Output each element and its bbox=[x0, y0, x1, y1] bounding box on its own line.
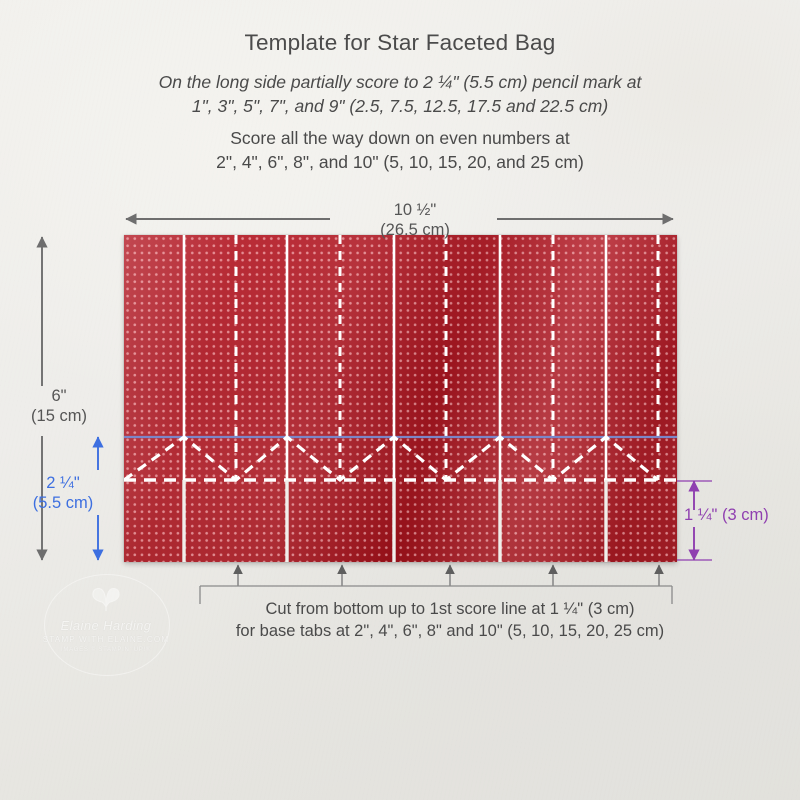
cut-note-line-1: Cut from bottom up to 1st score line at … bbox=[160, 598, 740, 620]
zigzag-facet-lines bbox=[124, 437, 658, 480]
partial-score-lines bbox=[236, 235, 658, 480]
partial-score-depth-label: 2 ¼" (5.5 cm) bbox=[2, 473, 124, 513]
width-inches: 10 ½" bbox=[330, 200, 500, 220]
height-dimension-label: 6" (15 cm) bbox=[0, 386, 118, 426]
cut-note-line-2: for base tabs at 2", 4", 6", 8" and 10" … bbox=[160, 620, 740, 642]
cut-instruction-note: Cut from bottom up to 1st score line at … bbox=[160, 598, 740, 642]
butterfly-icon bbox=[89, 586, 123, 612]
instruction-line-4: 2", 4", 6", 8", and 10" (5, 10, 15, 20, … bbox=[0, 150, 800, 174]
instruction-line-1: On the long side partially score to 2 ¼"… bbox=[0, 70, 800, 94]
width-cm: (26.5 cm) bbox=[330, 220, 500, 240]
watermark-credit: IMAGES © STAMPIN' UP!® bbox=[36, 647, 176, 653]
instruction-line-3: Score all the way down on even numbers a… bbox=[0, 126, 800, 150]
height-inches: 6" bbox=[0, 386, 118, 406]
partial-score-cm: (5.5 cm) bbox=[2, 493, 124, 513]
width-dimension-label: 10 ½" (26.5 cm) bbox=[330, 200, 500, 240]
watermark-domain: STAMP WITH ELAINE.COM bbox=[36, 635, 176, 644]
watermark-ring bbox=[44, 574, 170, 676]
watermark: Elaine Harding STAMP WITH ELAINE.COM IMA… bbox=[36, 572, 176, 676]
page-title: Template for Star Faceted Bag bbox=[0, 30, 800, 56]
height-cm: (15 cm) bbox=[0, 406, 118, 426]
score-lines-overlay bbox=[124, 235, 677, 562]
tab-height-label: 1 ¼" (3 cm) bbox=[684, 505, 800, 525]
instruction-line-2: 1", 3", 5", 7", and 9" (2.5, 7.5, 12.5, … bbox=[0, 94, 800, 118]
instruction-block-full-score: Score all the way down on even numbers a… bbox=[0, 126, 800, 174]
red-cardstock-paper bbox=[124, 235, 677, 562]
partial-score-inches: 2 ¼" bbox=[2, 473, 124, 493]
base-tab-cut-slits bbox=[184, 480, 606, 562]
watermark-name: Elaine Harding bbox=[36, 618, 176, 633]
instruction-block-partial-score: On the long side partially score to 2 ¼"… bbox=[0, 70, 800, 118]
photo-canvas: Template for Star Faceted Bag On the lon… bbox=[0, 0, 800, 800]
